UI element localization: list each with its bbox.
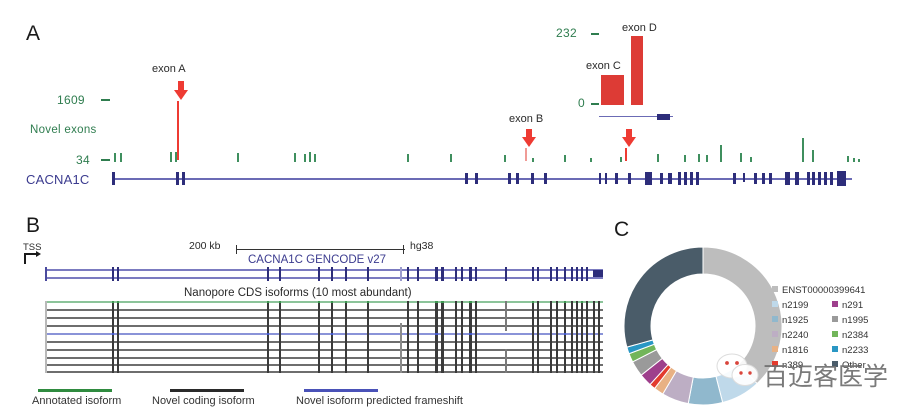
legend-swatch-icon (772, 346, 778, 352)
wechat-logo-icon (716, 352, 760, 388)
panel-a-gene-track (112, 168, 852, 190)
isoform-row (45, 317, 603, 319)
legend-text: n1925 (782, 315, 808, 326)
legend-item-3[interactable]: n2240 (772, 330, 832, 341)
legend-swatch-frameshift (304, 389, 378, 392)
legend-label-annotated: Annotated isoform (32, 395, 121, 407)
legend-text: n2199 (782, 300, 808, 311)
isoform-row (45, 301, 603, 303)
legend-swatch-novel-coding (170, 389, 244, 392)
legend-text: ENST00000399641 (782, 285, 865, 296)
inset-axis-max: 232 (556, 26, 577, 40)
panel-a-gene-label: CACNA1C (26, 172, 90, 187)
legend-text: n1816 (782, 345, 808, 356)
inset-axis-min: 0 (578, 96, 585, 110)
isoform-row (45, 364, 603, 366)
isoform-row (45, 325, 603, 327)
gencode-label: CACNA1C GENCODE v27 (248, 254, 386, 266)
exon-a-label: exon A (152, 63, 186, 75)
legend-swatch-icon (772, 301, 778, 307)
exon-d-label: exon D (622, 22, 657, 34)
legend-text: n1995 (842, 315, 868, 326)
isoform-tracks (45, 301, 605, 371)
inset-gene-model (599, 113, 673, 120)
panel-a-scale-min-tick (101, 159, 110, 161)
isoform-row (45, 341, 603, 343)
legend-swatch-icon (832, 346, 838, 352)
isoform-header: Nanopore CDS isoforms (10 most abundant) (184, 287, 412, 299)
legend-item-9[interactable]: n2233 (832, 345, 892, 356)
legend-swatch-icon (772, 286, 778, 292)
legend-text: n2240 (782, 330, 808, 341)
legend-item-8[interactable]: n2384 (832, 330, 892, 341)
scalebar (236, 245, 405, 254)
legend-label-novel-coding: Novel coding isoform (152, 395, 255, 407)
novel-exons-label: Novel exons (30, 124, 97, 136)
exon-b-tick (525, 148, 527, 161)
exon-b-label: exon B (509, 113, 543, 125)
isoform-row (45, 357, 603, 359)
legend-item-2[interactable]: n1925 (772, 315, 832, 326)
panel-a-scale-max-tick (101, 99, 110, 101)
legend-swatch-icon (772, 331, 778, 337)
legend-swatch-icon (832, 316, 838, 322)
legend-swatch-icon (832, 331, 838, 337)
inset-bar-exon-c (601, 75, 624, 105)
isoform-row (45, 349, 603, 351)
isoform-row (45, 371, 603, 373)
genome-build-label: hg38 (410, 240, 433, 252)
exon-d-tick (625, 148, 627, 161)
inset-bar-exon-d (631, 36, 643, 105)
legend-text: n2384 (842, 330, 868, 341)
watermark-text: 百迈客医学 (763, 357, 888, 393)
legend-label-frameshift: Novel isoform predicted frameshift (296, 395, 463, 407)
legend-item-1[interactable]: n2199 (772, 300, 832, 311)
legend-text: n2233 (842, 345, 868, 356)
legend-swatch-icon (832, 301, 838, 307)
novel-exon-density-track (112, 135, 852, 162)
legend-swatch-annotated (38, 389, 112, 392)
panel-a-letter: A (26, 22, 40, 46)
donut-slice[interactable] (624, 247, 703, 347)
donut-chart-svg (620, 243, 786, 409)
legend-item-0[interactable]: ENST00000399641 (772, 285, 900, 296)
gencode-track (45, 268, 605, 282)
isoform-row (45, 309, 603, 311)
tss-arrow-icon (24, 253, 46, 265)
legend-text: n291 (842, 300, 863, 311)
exon-c-label: exon C (586, 60, 621, 72)
panel-c-letter: C (614, 218, 629, 242)
donut-chart (620, 243, 786, 409)
legend-swatch-icon (772, 316, 778, 322)
scalebar-label: 200 kb (189, 240, 221, 252)
inset-axis-max-tick (591, 33, 599, 35)
legend-item-6[interactable]: n291 (832, 300, 892, 311)
legend-item-4[interactable]: n1816 (772, 345, 832, 356)
panel-b-letter: B (26, 214, 40, 238)
panel-a-scale-max: 1609 (57, 93, 85, 107)
inset-axis-min-tick (591, 103, 599, 105)
panel-a-scale-min: 34 (76, 153, 90, 167)
legend-item-7[interactable]: n1995 (832, 315, 892, 326)
isoform-row (45, 333, 603, 335)
